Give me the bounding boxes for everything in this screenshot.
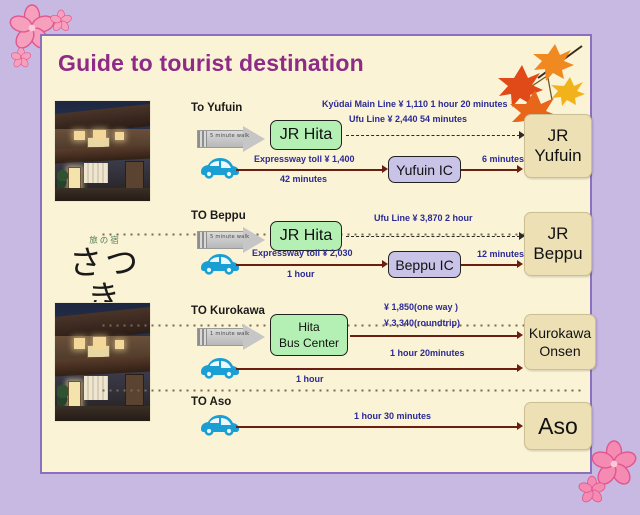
car-label-yufuin-bottom: 42 minutes xyxy=(280,174,327,184)
car-icon-yufuin xyxy=(197,154,241,180)
car-label-aso: 1 hour 30 minutes xyxy=(354,411,431,421)
walk-label-beppu: 5 minute walk xyxy=(210,234,249,240)
destination-label: JR Beppu xyxy=(525,224,591,264)
slide-canvas: Guide to tourist destination xyxy=(0,0,640,514)
destination-label: JR Yufuin xyxy=(525,126,591,166)
route-heading-aso: TO Aso xyxy=(191,396,231,408)
car-icon-beppu xyxy=(197,250,241,276)
ic-to-dest-arrow-yufuin xyxy=(517,165,523,173)
row-divider-3 xyxy=(100,389,584,392)
ic-box-label: Yufuin IC xyxy=(396,162,453,178)
rail-label-yufuin-1: Kyūdai Main Line ¥ 1,110 1 hour 20 minut… xyxy=(322,99,508,109)
route-heading-kurokawa: TO Kurokawa xyxy=(191,305,265,317)
car-label-yufuin-top: Expressway toll ¥ 1,400 xyxy=(254,154,355,164)
origin-box-label: JR Hita xyxy=(280,126,332,144)
origin-box-yufuin[interactable]: JR Hita xyxy=(270,120,342,150)
car-arrow-aso xyxy=(517,422,523,430)
ic-box-beppu[interactable]: Beppu IC xyxy=(388,251,461,278)
bus-label-kurokawa-2: ¥ 3,340(roundtrip) xyxy=(384,318,460,328)
origin-box-beppu[interactable]: JR Hita xyxy=(270,221,342,251)
ic-to-dest-line-beppu xyxy=(461,264,518,266)
walk-arrow-kurokawa: 1 minute walk xyxy=(197,324,265,350)
car-line-kurokawa xyxy=(236,368,518,370)
bus-line-kurokawa xyxy=(350,335,518,337)
ic-to-dest-arrow-beppu xyxy=(517,260,523,268)
origin-box-label-line2: Bus Center xyxy=(279,335,339,351)
ic-box-yufuin[interactable]: Yufuin IC xyxy=(388,156,461,183)
walk-label-kurokawa: 1 minute walk xyxy=(210,331,249,337)
destination-label-line2: Onsen xyxy=(539,342,580,360)
page-title: Guide to tourist destination xyxy=(58,50,364,77)
car-line-yufuin xyxy=(236,169,383,171)
origin-box-label-line1: Hita xyxy=(298,319,319,335)
rail-line-beppu xyxy=(346,236,520,237)
rail-line-yufuin xyxy=(346,135,520,136)
car-label-beppu-bottom: 1 hour xyxy=(287,269,315,279)
ryokan-photo-bottom xyxy=(54,302,151,422)
car-label-beppu-top: Expressway toll ¥ 2,030 xyxy=(252,248,353,258)
car-icon-aso xyxy=(197,411,241,437)
walk-arrow-yufuin: 5 minute walk xyxy=(197,126,265,152)
destination-label-line1: Kurokawa xyxy=(529,324,591,342)
route-heading-yufuin: To Yufuin xyxy=(191,102,242,114)
ryokan-photo-top xyxy=(54,100,151,202)
ic-box-label: Beppu IC xyxy=(395,257,453,273)
ic-to-dest-label-yufuin: 6 minutes xyxy=(482,154,524,164)
origin-box-label: JR Hita xyxy=(280,227,332,245)
destination-box-kurokawa[interactable]: Kurokawa Onsen xyxy=(524,314,596,370)
destination-box-aso[interactable]: Aso xyxy=(524,402,592,450)
origin-box-kurokawa[interactable]: Hita Bus Center xyxy=(270,314,348,356)
destination-box-yufuin[interactable]: JR Yufuin xyxy=(524,114,592,178)
car-line-beppu xyxy=(236,264,383,266)
walk-label-yufuin: 5 minute walk xyxy=(210,133,249,139)
rail-label-yufuin-2: Ufu Line ¥ 2,440 54 minutes xyxy=(349,114,467,124)
car-arrow-kurokawa xyxy=(517,364,523,372)
car-label-kurokawa: 1 hour xyxy=(296,374,324,384)
bus-label-kurokawa-3: 1 hour 20minutes xyxy=(390,348,465,358)
bus-label-kurokawa-1: ¥ 1,850(one way ) xyxy=(384,302,458,312)
ic-to-dest-label-beppu: 12 minutes xyxy=(477,249,524,259)
car-line-aso xyxy=(236,426,518,428)
destination-label: Aso xyxy=(538,413,578,440)
slide-card: Guide to tourist destination xyxy=(40,34,592,474)
car-icon-kurokawa xyxy=(197,354,241,380)
bus-arrow-kurokawa xyxy=(517,331,523,339)
destination-box-beppu[interactable]: JR Beppu xyxy=(524,212,592,276)
ic-to-dest-line-yufuin xyxy=(461,169,518,171)
rail-label-beppu-1: Ufu Line ¥ 3,870 2 hour xyxy=(374,213,473,223)
route-heading-beppu: TO Beppu xyxy=(191,210,246,222)
